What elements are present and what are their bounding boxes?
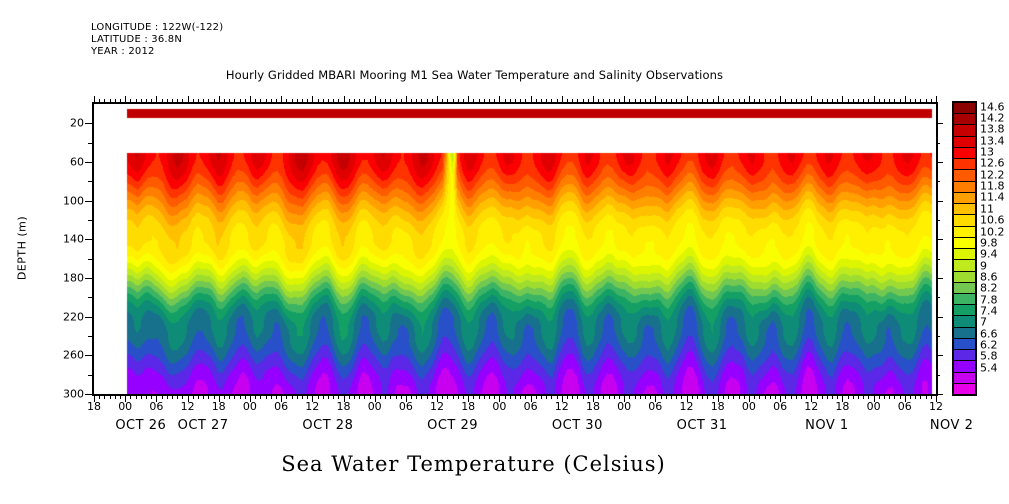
x-axis-top-tick bbox=[307, 99, 308, 104]
x-axis-top-tick bbox=[749, 96, 750, 104]
x-axis-minor-tick bbox=[442, 394, 443, 399]
colorbar-cell bbox=[954, 170, 975, 181]
x-axis-top-tick bbox=[920, 99, 921, 104]
x-axis-top-tick bbox=[162, 99, 163, 104]
temperature-heatmap-canvas bbox=[94, 104, 936, 394]
x-axis-minor-tick bbox=[817, 394, 818, 399]
y-axis-right-tick bbox=[936, 317, 943, 318]
x-axis-top-tick bbox=[765, 99, 766, 104]
x-axis-minor-tick bbox=[541, 394, 542, 399]
x-axis-top-tick bbox=[214, 99, 215, 104]
x-axis-minor-tick bbox=[302, 394, 303, 399]
x-axis-minor-tick bbox=[432, 394, 433, 399]
x-axis-top-tick bbox=[806, 99, 807, 104]
x-axis-minor-tick bbox=[167, 394, 168, 399]
x-axis-minor-tick bbox=[110, 394, 111, 399]
y-axis-right-tick bbox=[936, 143, 940, 144]
x-axis-top-tick bbox=[567, 99, 568, 104]
x-axis-minor-tick bbox=[266, 394, 267, 399]
x-axis-minor-tick bbox=[276, 394, 277, 399]
x-axis-top-tick bbox=[473, 99, 474, 104]
x-axis-top-tick bbox=[624, 96, 625, 104]
x-axis-hour-label: 00 bbox=[617, 400, 631, 413]
x-axis-day-label: NOV 1 bbox=[805, 418, 849, 433]
x-axis-minor-tick bbox=[863, 394, 864, 399]
x-axis-minor-tick bbox=[224, 394, 225, 399]
x-axis-minor-tick bbox=[515, 394, 516, 399]
x-axis-day-label: NOV 2 bbox=[930, 418, 974, 433]
x-axis-top-tick bbox=[442, 99, 443, 104]
chart-title: Hourly Gridded MBARI Mooring M1 Sea Wate… bbox=[0, 68, 1009, 82]
colorbar-cell bbox=[954, 159, 975, 170]
x-axis-hour-label: 06 bbox=[524, 400, 538, 413]
x-axis-top-tick bbox=[141, 99, 142, 104]
x-axis-top-tick bbox=[687, 96, 688, 104]
x-axis-minor-tick bbox=[723, 394, 724, 399]
y-axis-right-tick bbox=[936, 394, 943, 395]
x-axis-top-tick bbox=[900, 99, 901, 104]
x-axis-top-tick bbox=[167, 99, 168, 104]
x-axis-top-tick bbox=[312, 96, 313, 104]
x-axis-top-tick bbox=[936, 96, 937, 104]
x-axis-top-tick bbox=[666, 99, 667, 104]
x-axis-minor-tick bbox=[910, 394, 911, 399]
x-axis-minor-tick bbox=[832, 394, 833, 399]
x-axis-top-tick bbox=[629, 99, 630, 104]
x-axis-top-tick bbox=[115, 99, 116, 104]
x-axis-top-tick bbox=[905, 96, 906, 104]
colorbar-cell bbox=[954, 204, 975, 215]
x-axis-top-tick bbox=[136, 99, 137, 104]
x-axis-top-tick bbox=[385, 99, 386, 104]
x-axis-minor-tick bbox=[848, 394, 849, 399]
x-axis-minor-tick bbox=[900, 394, 901, 399]
x-axis-top-tick bbox=[359, 99, 360, 104]
x-axis-minor-tick bbox=[785, 394, 786, 399]
x-axis-top-tick bbox=[692, 99, 693, 104]
metadata-year: YEAR : 2012 bbox=[91, 46, 223, 58]
x-axis-minor-tick bbox=[162, 394, 163, 399]
x-axis-day-label: OCT 27 bbox=[178, 418, 229, 433]
x-axis-minor-tick bbox=[510, 394, 511, 399]
x-axis-top-tick bbox=[837, 99, 838, 104]
x-axis-top-tick bbox=[619, 99, 620, 104]
x-axis-top-tick bbox=[650, 99, 651, 104]
x-axis-top-tick bbox=[333, 99, 334, 104]
x-axis-top-tick bbox=[453, 99, 454, 104]
x-axis-minor-tick bbox=[650, 394, 651, 399]
x-axis-top-tick bbox=[541, 99, 542, 104]
x-axis-minor-tick bbox=[858, 394, 859, 399]
x-axis-minor-tick bbox=[770, 394, 771, 399]
x-axis-minor-tick bbox=[822, 394, 823, 399]
x-axis-top-tick bbox=[401, 99, 402, 104]
x-axis-top-tick bbox=[489, 99, 490, 104]
x-axis-minor-tick bbox=[416, 394, 417, 399]
x-axis-top-tick bbox=[842, 96, 843, 104]
x-axis-top-tick bbox=[416, 99, 417, 104]
y-axis-right-tick bbox=[936, 239, 943, 240]
x-axis-top-tick bbox=[94, 96, 95, 104]
x-axis-top-tick bbox=[910, 99, 911, 104]
x-axis-minor-tick bbox=[229, 394, 230, 399]
x-axis-minor-tick bbox=[551, 394, 552, 399]
x-axis-top-tick bbox=[754, 99, 755, 104]
x-axis-minor-tick bbox=[619, 394, 620, 399]
x-axis-top-tick bbox=[822, 99, 823, 104]
x-axis-minor-tick bbox=[458, 394, 459, 399]
x-axis-minor-tick bbox=[151, 394, 152, 399]
x-axis-top-tick bbox=[494, 99, 495, 104]
x-axis-top-tick bbox=[889, 99, 890, 104]
x-axis-minor-tick bbox=[349, 394, 350, 399]
x-axis-top-tick bbox=[110, 99, 111, 104]
x-axis-top-tick bbox=[276, 99, 277, 104]
x-axis-top-tick bbox=[676, 99, 677, 104]
x-axis-minor-tick bbox=[484, 394, 485, 399]
x-axis-top-tick bbox=[208, 99, 209, 104]
x-axis-top-tick bbox=[515, 99, 516, 104]
x-axis-top-tick bbox=[588, 99, 589, 104]
colorbar-cell bbox=[954, 227, 975, 238]
x-axis-top-tick bbox=[390, 99, 391, 104]
x-axis-top-tick bbox=[255, 99, 256, 104]
x-axis-minor-tick bbox=[915, 394, 916, 399]
x-axis-minor-tick bbox=[739, 394, 740, 399]
x-axis-day-label: OCT 29 bbox=[427, 418, 478, 433]
x-axis-top-tick bbox=[557, 99, 558, 104]
x-axis-minor-tick bbox=[328, 394, 329, 399]
colorbar-cell bbox=[954, 283, 975, 294]
y-axis-depth-label: 140 bbox=[46, 233, 84, 246]
x-axis-top-tick bbox=[370, 99, 371, 104]
y-axis-right-tick bbox=[936, 278, 943, 279]
x-axis-minor-tick bbox=[193, 394, 194, 399]
metadata-latitude: LATITUDE : 36.8N bbox=[91, 34, 223, 46]
y-axis-right-tick bbox=[936, 297, 940, 298]
colorbar-cell bbox=[954, 350, 975, 361]
x-axis-hour-label: 00 bbox=[243, 400, 257, 413]
x-axis-minor-tick bbox=[536, 394, 537, 399]
x-axis-minor-tick bbox=[245, 394, 246, 399]
x-axis-hour-label: 12 bbox=[680, 400, 694, 413]
x-axis-minor-tick bbox=[765, 394, 766, 399]
x-axis-minor-tick bbox=[370, 394, 371, 399]
x-axis-top-tick bbox=[728, 99, 729, 104]
x-axis-top-tick bbox=[614, 99, 615, 104]
x-axis-hour-label: 06 bbox=[274, 400, 288, 413]
x-axis-hour-label: 00 bbox=[118, 400, 132, 413]
x-axis-top-tick bbox=[156, 96, 157, 104]
x-axis-minor-tick bbox=[635, 394, 636, 399]
x-axis-minor-tick bbox=[401, 394, 402, 399]
x-axis-minor-tick bbox=[411, 394, 412, 399]
y-axis-major-tick bbox=[85, 317, 92, 318]
x-axis-day-label: OCT 31 bbox=[677, 418, 728, 433]
x-axis-minor-tick bbox=[775, 394, 776, 399]
x-axis-minor-tick bbox=[572, 394, 573, 399]
x-axis-hour-label: 18 bbox=[461, 400, 475, 413]
x-axis-top-tick bbox=[801, 99, 802, 104]
x-axis-top-tick bbox=[811, 96, 812, 104]
x-axis-minor-tick bbox=[676, 394, 677, 399]
y-axis-minor-tick bbox=[88, 297, 92, 298]
x-axis-minor-tick bbox=[640, 394, 641, 399]
x-axis-top-tick bbox=[510, 99, 511, 104]
y-axis-depth-label: 180 bbox=[46, 272, 84, 285]
x-axis-top-tick bbox=[926, 99, 927, 104]
x-axis-top-tick bbox=[396, 99, 397, 104]
x-axis-minor-tick bbox=[806, 394, 807, 399]
x-axis-top-tick bbox=[583, 99, 584, 104]
y-axis-right-tick bbox=[936, 375, 940, 376]
x-axis-minor-tick bbox=[182, 394, 183, 399]
x-axis-top-tick bbox=[266, 99, 267, 104]
x-axis-top-tick bbox=[562, 96, 563, 104]
x-axis-top-tick bbox=[406, 96, 407, 104]
x-axis-minor-tick bbox=[505, 394, 506, 399]
x-axis-top-tick bbox=[796, 99, 797, 104]
x-axis-minor-tick bbox=[385, 394, 386, 399]
x-axis-top-tick bbox=[182, 99, 183, 104]
x-axis-hour-label: 12 bbox=[305, 400, 319, 413]
y-axis-right-tick bbox=[936, 162, 943, 163]
x-axis-minor-tick bbox=[307, 394, 308, 399]
x-axis-top-tick bbox=[203, 99, 204, 104]
x-axis-top-tick bbox=[281, 96, 282, 104]
x-axis-top-tick bbox=[411, 99, 412, 104]
x-axis-top-tick bbox=[219, 96, 220, 104]
x-axis-top-tick bbox=[661, 99, 662, 104]
x-axis-minor-tick bbox=[894, 394, 895, 399]
x-axis-top-tick bbox=[375, 96, 376, 104]
x-axis-minor-tick bbox=[255, 394, 256, 399]
x-axis-top-tick bbox=[759, 99, 760, 104]
x-axis-minor-tick bbox=[427, 394, 428, 399]
x-axis-minor-tick bbox=[583, 394, 584, 399]
x-axis-top-tick bbox=[146, 99, 147, 104]
x-axis-minor-tick bbox=[447, 394, 448, 399]
x-axis-top-tick bbox=[172, 99, 173, 104]
x-axis-minor-tick bbox=[104, 394, 105, 399]
x-axis-top-tick bbox=[681, 99, 682, 104]
colorbar-cell bbox=[954, 148, 975, 159]
x-axis-minor-tick bbox=[520, 394, 521, 399]
x-axis-top-tick bbox=[858, 99, 859, 104]
x-axis-minor-tick bbox=[234, 394, 235, 399]
colorbar-cell bbox=[954, 103, 975, 114]
x-axis-top-tick bbox=[697, 99, 698, 104]
x-axis-minor-tick bbox=[759, 394, 760, 399]
y-axis-major-tick bbox=[85, 162, 92, 163]
x-axis-top-tick bbox=[484, 99, 485, 104]
x-axis-minor-tick bbox=[645, 394, 646, 399]
x-axis-top-tick bbox=[744, 99, 745, 104]
x-axis-top-tick bbox=[364, 99, 365, 104]
x-axis-minor-tick bbox=[546, 394, 547, 399]
x-axis-top-tick bbox=[723, 99, 724, 104]
y-axis-major-tick bbox=[85, 201, 92, 202]
x-axis-top-tick bbox=[338, 99, 339, 104]
x-axis-top-tick bbox=[99, 99, 100, 104]
x-axis-top-tick bbox=[479, 99, 480, 104]
x-axis-minor-tick bbox=[390, 394, 391, 399]
x-axis-minor-tick bbox=[567, 394, 568, 399]
chart-caption: Sea Water Temperature (Celsius) bbox=[0, 452, 1009, 476]
colorbar-cell bbox=[954, 361, 975, 372]
x-axis-top-tick bbox=[598, 99, 599, 104]
x-axis-top-tick bbox=[733, 99, 734, 104]
x-axis-top-tick bbox=[671, 99, 672, 104]
x-axis-minor-tick bbox=[463, 394, 464, 399]
x-axis-minor-tick bbox=[744, 394, 745, 399]
y-axis-depth-label: 260 bbox=[46, 349, 84, 362]
x-axis-hour-label: 00 bbox=[742, 400, 756, 413]
colorbar-cell bbox=[954, 305, 975, 316]
x-axis-minor-tick bbox=[318, 394, 319, 399]
x-axis-hour-label: 12 bbox=[181, 400, 195, 413]
x-axis-top-tick bbox=[318, 99, 319, 104]
x-axis-top-tick bbox=[546, 99, 547, 104]
x-axis-top-tick bbox=[593, 96, 594, 104]
x-axis-minor-tick bbox=[614, 394, 615, 399]
x-axis-top-tick bbox=[458, 99, 459, 104]
x-axis-top-tick bbox=[505, 99, 506, 104]
x-axis-minor-tick bbox=[99, 394, 100, 399]
y-axis-right-tick bbox=[936, 355, 943, 356]
x-axis-minor-tick bbox=[827, 394, 828, 399]
y-axis-minor-tick bbox=[88, 143, 92, 144]
x-axis-minor-tick bbox=[733, 394, 734, 399]
x-axis-minor-tick bbox=[120, 394, 121, 399]
x-axis-minor-tick bbox=[286, 394, 287, 399]
x-axis-top-tick bbox=[130, 99, 131, 104]
x-axis-top-tick bbox=[718, 96, 719, 104]
y-axis-right-tick bbox=[936, 201, 943, 202]
x-axis-hour-label: 18 bbox=[337, 400, 351, 413]
x-axis-top-tick bbox=[785, 99, 786, 104]
x-axis-minor-tick bbox=[603, 394, 604, 399]
colorbar-cell bbox=[954, 137, 975, 148]
x-axis-hour-label: 06 bbox=[149, 400, 163, 413]
x-axis-minor-tick bbox=[177, 394, 178, 399]
x-axis-top-tick bbox=[770, 99, 771, 104]
colorbar-cell bbox=[954, 249, 975, 260]
x-axis-minor-tick bbox=[697, 394, 698, 399]
x-axis-top-tick bbox=[271, 99, 272, 104]
x-axis-top-tick bbox=[292, 99, 293, 104]
x-axis-top-tick bbox=[874, 96, 875, 104]
x-axis-minor-tick bbox=[214, 394, 215, 399]
x-axis-minor-tick bbox=[853, 394, 854, 399]
x-axis-minor-tick bbox=[692, 394, 693, 399]
x-axis-top-tick bbox=[437, 96, 438, 104]
colorbar bbox=[952, 101, 977, 396]
x-axis-top-tick bbox=[250, 96, 251, 104]
x-axis-minor-tick bbox=[666, 394, 667, 399]
x-axis-top-tick bbox=[432, 99, 433, 104]
x-axis-minor-tick bbox=[115, 394, 116, 399]
y-axis-minor-tick bbox=[88, 375, 92, 376]
x-axis-top-tick bbox=[349, 99, 350, 104]
x-axis-top-tick bbox=[198, 99, 199, 104]
x-axis-hour-label: 06 bbox=[773, 400, 787, 413]
y-axis-title: DEPTH (m) bbox=[16, 216, 29, 280]
x-axis-hour-label: 06 bbox=[648, 400, 662, 413]
x-axis-top-tick bbox=[427, 99, 428, 104]
x-axis-top-tick bbox=[104, 99, 105, 104]
y-axis-major-tick bbox=[85, 278, 92, 279]
x-axis-top-tick bbox=[640, 99, 641, 104]
x-axis-minor-tick bbox=[260, 394, 261, 399]
x-axis-minor-tick bbox=[489, 394, 490, 399]
x-axis-minor-tick bbox=[198, 394, 199, 399]
x-axis-minor-tick bbox=[884, 394, 885, 399]
x-axis-minor-tick bbox=[707, 394, 708, 399]
colorbar-cell bbox=[954, 215, 975, 226]
x-axis-top-tick bbox=[931, 99, 932, 104]
x-axis-minor-tick bbox=[479, 394, 480, 399]
x-axis-hour-label: 06 bbox=[898, 400, 912, 413]
x-axis-top-tick bbox=[354, 99, 355, 104]
x-axis-hour-label: 12 bbox=[804, 400, 818, 413]
x-axis-top-tick bbox=[603, 99, 604, 104]
x-axis-minor-tick bbox=[889, 394, 890, 399]
colorbar-cell bbox=[954, 373, 975, 384]
x-axis-hour-label: 12 bbox=[555, 400, 569, 413]
colorbar-cell bbox=[954, 182, 975, 193]
x-axis-top-tick bbox=[868, 99, 869, 104]
y-axis-depth-label: 220 bbox=[46, 310, 84, 323]
x-axis-minor-tick bbox=[588, 394, 589, 399]
plot-area bbox=[92, 102, 938, 396]
x-axis-minor-tick bbox=[525, 394, 526, 399]
x-axis-top-tick bbox=[775, 99, 776, 104]
x-axis-top-tick bbox=[635, 99, 636, 104]
x-axis-top-tick bbox=[499, 96, 500, 104]
y-axis-depth-label: 100 bbox=[46, 194, 84, 207]
x-axis-top-tick bbox=[915, 99, 916, 104]
x-axis-minor-tick bbox=[879, 394, 880, 399]
y-axis-major-tick bbox=[85, 355, 92, 356]
colorbar-cell bbox=[954, 384, 975, 394]
x-axis-minor-tick bbox=[203, 394, 204, 399]
y-axis-major-tick bbox=[85, 394, 92, 395]
x-axis-minor-tick bbox=[292, 394, 293, 399]
metadata-block: LONGITUDE : 122W(-122) LATITUDE : 36.8N … bbox=[91, 22, 223, 59]
x-axis-top-tick bbox=[702, 99, 703, 104]
colorbar-cell bbox=[954, 193, 975, 204]
x-axis-top-tick bbox=[380, 99, 381, 104]
x-axis-minor-tick bbox=[421, 394, 422, 399]
x-axis-day-label: OCT 28 bbox=[302, 418, 353, 433]
x-axis-top-tick bbox=[707, 99, 708, 104]
x-axis-hour-label: 18 bbox=[212, 400, 226, 413]
x-axis-hour-label: 18 bbox=[711, 400, 725, 413]
y-axis-minor-tick bbox=[88, 259, 92, 260]
x-axis-minor-tick bbox=[364, 394, 365, 399]
x-axis-hour-label: 18 bbox=[835, 400, 849, 413]
x-axis-minor-tick bbox=[130, 394, 131, 399]
x-axis-hour-label: 18 bbox=[87, 400, 101, 413]
x-axis-hour-label: 12 bbox=[430, 400, 444, 413]
x-axis-top-tick bbox=[120, 99, 121, 104]
y-axis-minor-tick bbox=[88, 336, 92, 337]
y-axis-right-tick bbox=[936, 123, 943, 124]
x-axis-minor-tick bbox=[354, 394, 355, 399]
x-axis-minor-tick bbox=[681, 394, 682, 399]
x-axis-top-tick bbox=[193, 99, 194, 104]
